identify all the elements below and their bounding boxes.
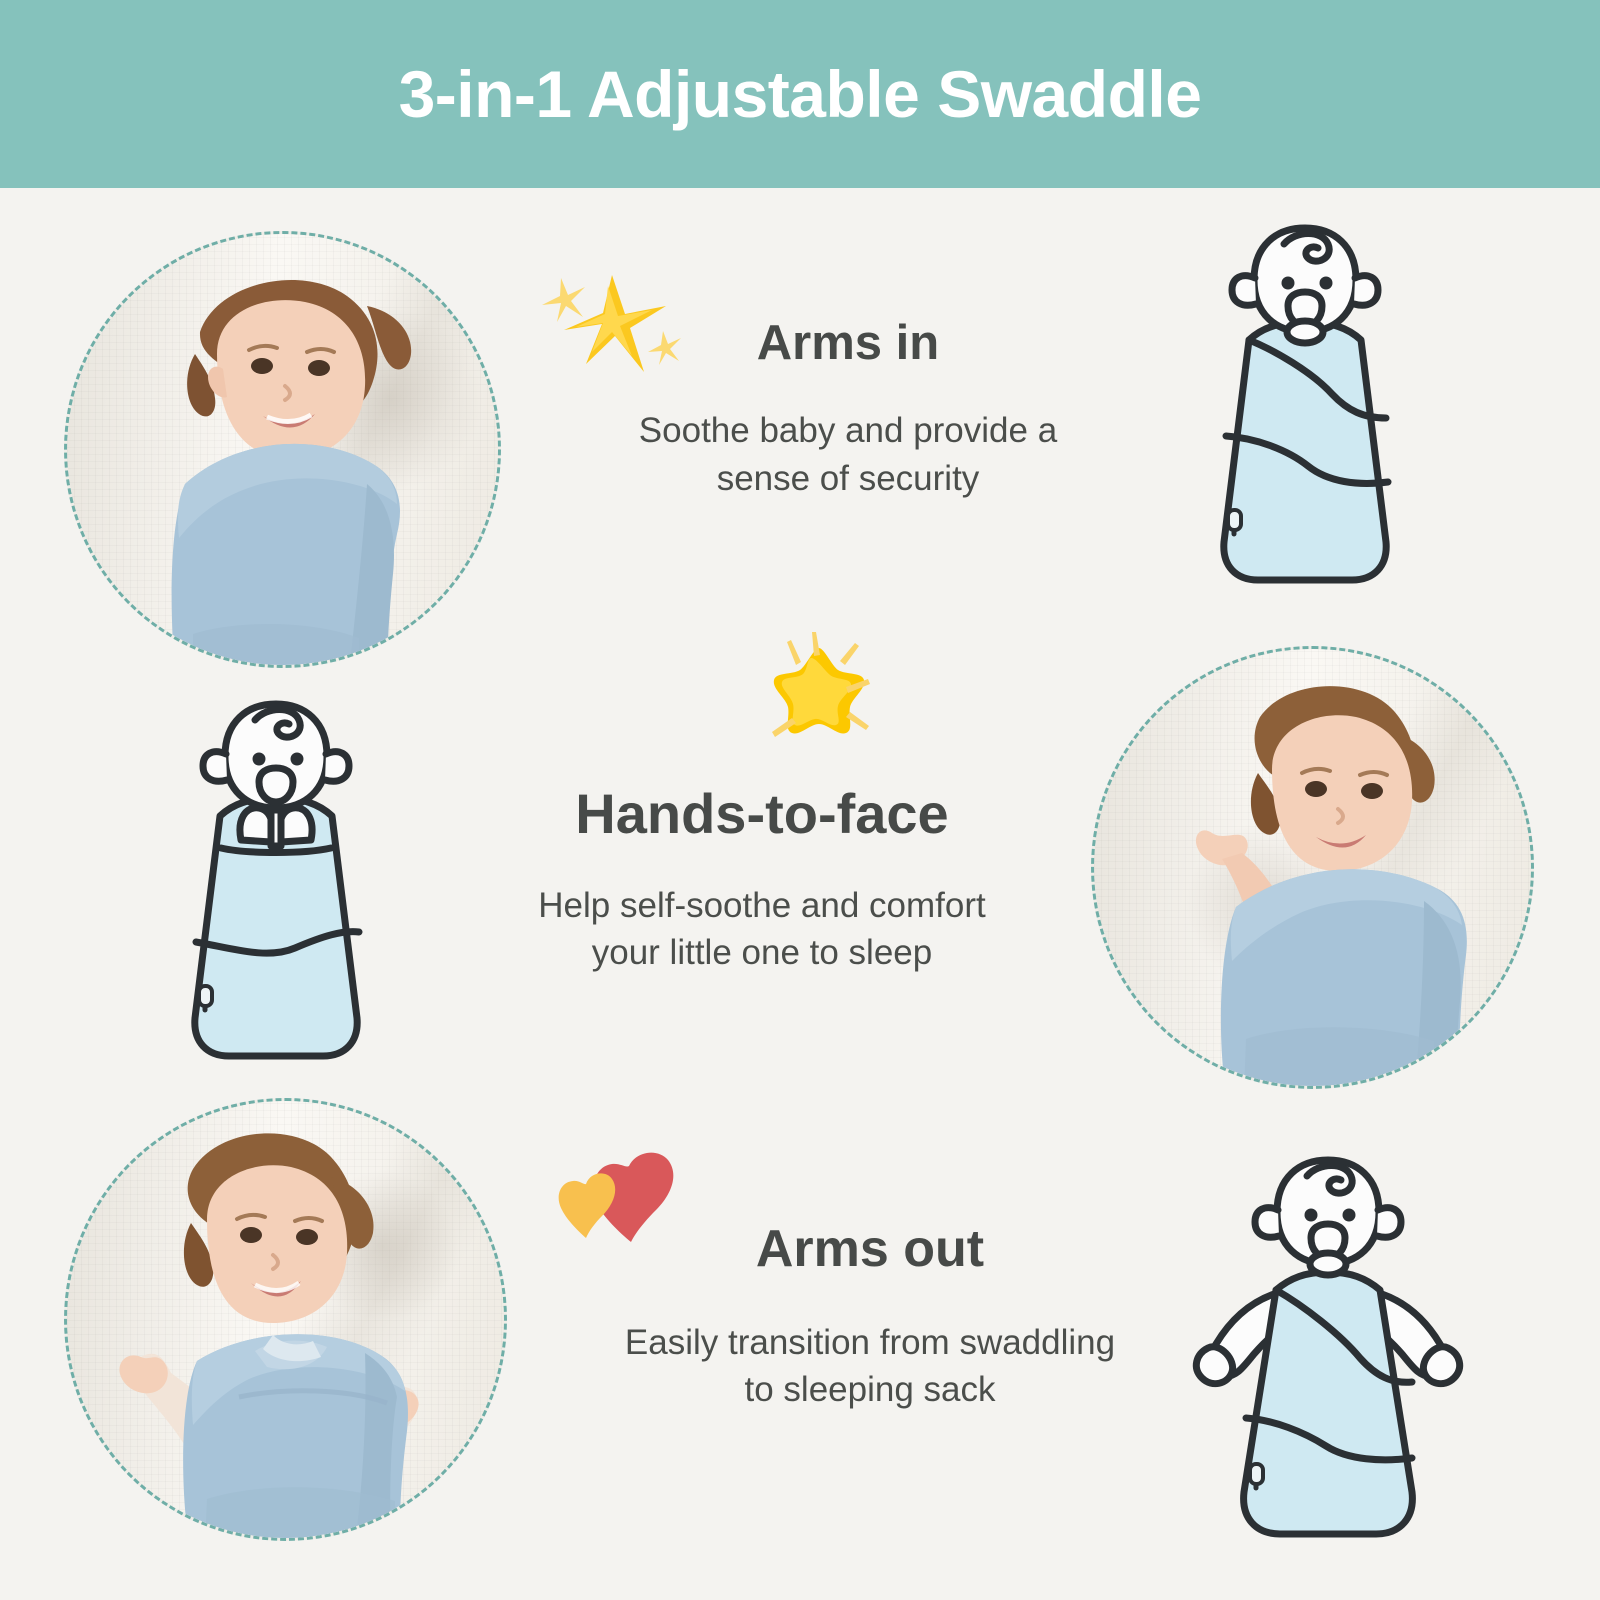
photo-hands-to-face [1091, 646, 1534, 1089]
feature-desc-arms-in-line1: Soothe baby and provide a [548, 407, 1148, 455]
feature-text-arms-in: Arms in Soothe baby and provide a sense … [548, 318, 1148, 503]
photo-arms-out-image [67, 1101, 504, 1538]
feature-title-hands-to-face: Hands-to-face [462, 785, 1062, 844]
feature-desc-arms-out-line2: to sleeping sack [560, 1366, 1180, 1414]
page-title: 3-in-1 Adjustable Swaddle [399, 61, 1202, 127]
feature-desc-hands-to-face-line2: your little one to sleep [462, 929, 1062, 977]
photo-hands-to-face-image [1094, 649, 1531, 1086]
feature-desc-arms-in-line2: sense of security [548, 455, 1148, 503]
feature-text-arms-out: Arms out Easily transition from swaddlin… [560, 1222, 1180, 1414]
photo-arms-out [64, 1098, 507, 1541]
feature-title-arms-out: Arms out [560, 1222, 1180, 1277]
star-burst-icon [758, 622, 880, 744]
feature-text-hands-to-face: Hands-to-face Help self-soothe and comfo… [462, 785, 1062, 977]
feature-title-arms-in: Arms in [548, 318, 1148, 369]
baby-photo-hands-to-face-svg [1094, 649, 1531, 1086]
page-header: 3-in-1 Adjustable Swaddle [0, 0, 1600, 188]
feature-desc-arms-out-line1: Easily transition from swaddling [560, 1319, 1180, 1367]
photo-arms-in [64, 231, 501, 668]
baby-photo-arms-in-svg [67, 234, 498, 665]
illustration-hands-to-face [163, 698, 389, 1064]
photo-arms-in-image [67, 234, 498, 665]
illustration-arms-in [1192, 222, 1418, 588]
baby-photo-arms-out-svg [67, 1101, 504, 1538]
feature-desc-hands-to-face-line1: Help self-soothe and comfort [462, 882, 1062, 930]
illustration-arms-out [1178, 1148, 1478, 1548]
